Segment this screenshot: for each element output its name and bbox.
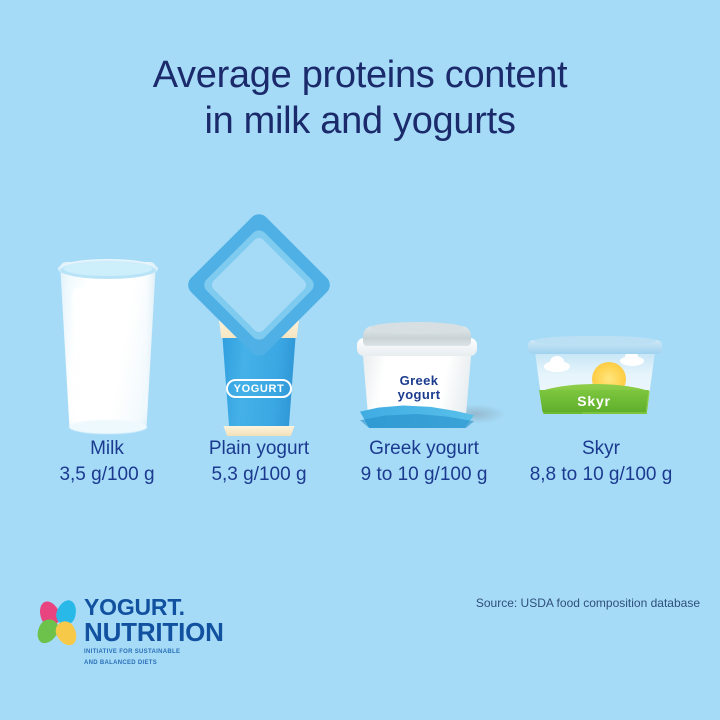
product-illustration-greek-yogurt: Greek yogurt: [352, 242, 502, 442]
glass-highlight: [72, 287, 87, 407]
brand-name-line-1: YOGURT.: [84, 596, 234, 619]
flower-petals-icon: [38, 600, 80, 648]
caption-plain-yogurt-value: 5,3 g/100 g: [182, 461, 336, 489]
cloud-icon-left: [544, 361, 570, 372]
caption-skyr: Skyr 8,8 to 10 g/100 g: [506, 436, 696, 489]
caption-plain-yogurt: Plain yogurt 5,3 g/100 g: [182, 436, 336, 489]
page-title-line-1: Average proteins content: [0, 52, 720, 98]
brand-logo[interactable]: YOGURT. NUTRITION INITIATIVE FOR SUSTAIN…: [38, 596, 238, 670]
milk-surface: [64, 262, 152, 276]
page-title-line-2: in milk and yogurts: [0, 98, 720, 144]
caption-plain-yogurt-name: Plain yogurt: [182, 436, 336, 461]
brand-logo-text: YOGURT. NUTRITION INITIATIVE FOR SUSTAIN…: [84, 596, 234, 667]
glass-base: [69, 420, 147, 434]
caption-skyr-value: 8,8 to 10 g/100 g: [506, 461, 696, 489]
tub-label-line-1: Greek: [400, 373, 439, 388]
tub-lid-top: [370, 322, 464, 334]
brand-tagline-line-1: INITIATIVE FOR SUSTAINABLE: [84, 649, 234, 657]
caption-milk: Milk 3,5 g/100 g: [30, 436, 184, 489]
infographic-canvas: Average proteins content in milk and yog…: [0, 0, 720, 720]
caption-greek-yogurt: Greek yogurt 9 to 10 g/100 g: [338, 436, 510, 489]
product-illustration-skyr: Skyr: [524, 242, 674, 442]
caption-greek-yogurt-name: Greek yogurt: [338, 436, 510, 461]
tub-label-line-2: yogurt: [398, 387, 441, 402]
caption-milk-value: 3,5 g/100 g: [30, 461, 184, 489]
yogurt-pot-bottom-band: [222, 426, 296, 436]
product-illustration-milk: [42, 242, 172, 442]
skyr-tub-rim-top: [534, 336, 656, 346]
skyr-label: Skyr: [538, 393, 650, 409]
product-captions: Milk 3,5 g/100 g Plain yogurt 5,3 g/100 …: [0, 436, 720, 508]
tub-label: Greek yogurt: [374, 374, 464, 402]
brand-name-line-2: NUTRITION: [84, 619, 234, 646]
caption-milk-name: Milk: [30, 436, 184, 461]
caption-skyr-name: Skyr: [506, 436, 696, 461]
caption-greek-yogurt-value: 9 to 10 g/100 g: [338, 461, 510, 489]
cloud-icon-right: [620, 356, 644, 366]
brand-tagline-line-2: AND BALANCED DIETS: [84, 660, 234, 668]
product-illustration-plain-yogurt: YOGURT: [200, 242, 318, 442]
product-illustrations: YOGURT Greek yogurt: [0, 232, 720, 442]
yogurt-pot-label: YOGURT: [226, 379, 292, 398]
page-title: Average proteins content in milk and yog…: [0, 52, 720, 144]
source-note: Source: USDA food composition database: [430, 596, 700, 610]
